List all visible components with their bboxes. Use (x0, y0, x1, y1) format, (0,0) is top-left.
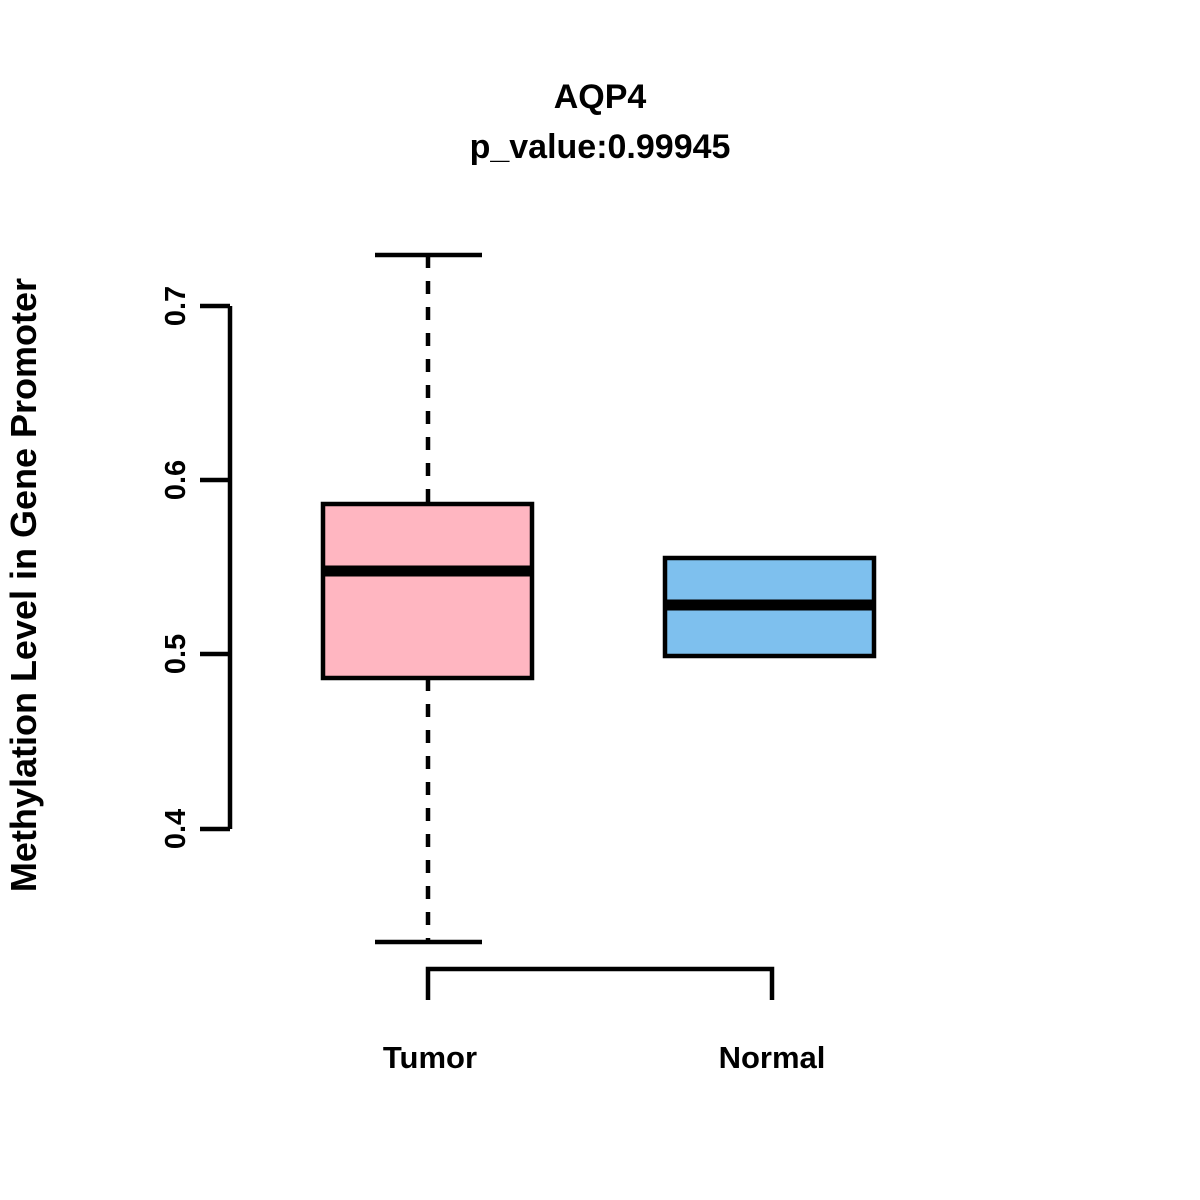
boxplot-figure: AQP4 p_value:0.99945 Methylation Level i… (0, 0, 1200, 1200)
y-tick-label-0.7: 0.7 (160, 286, 192, 326)
y-tick-label-0.4: 0.4 (160, 809, 192, 849)
box-normal[interactable] (663, 558, 876, 656)
plot-canvas: AQP4 p_value:0.99945 Methylation Level i… (0, 0, 1200, 1200)
x-tick-label-normal: Normal (719, 1040, 826, 1075)
chart-subtitle: p_value:0.99945 (470, 128, 731, 166)
chart-title: AQP4 (554, 78, 647, 116)
box-tumor[interactable] (321, 255, 534, 942)
tumor-box-rect (323, 504, 532, 678)
x-axis-spine (428, 969, 772, 1000)
x-tick-label-tumor: Tumor (383, 1040, 477, 1075)
y-axis: 0.7 0.6 0.5 0.4 (160, 286, 230, 849)
y-tick-label-0.5: 0.5 (160, 634, 192, 674)
x-axis: Tumor Normal (383, 969, 825, 1075)
y-axis-title: Methylation Level in Gene Promoter (3, 278, 44, 892)
y-tick-label-0.6: 0.6 (160, 460, 192, 500)
